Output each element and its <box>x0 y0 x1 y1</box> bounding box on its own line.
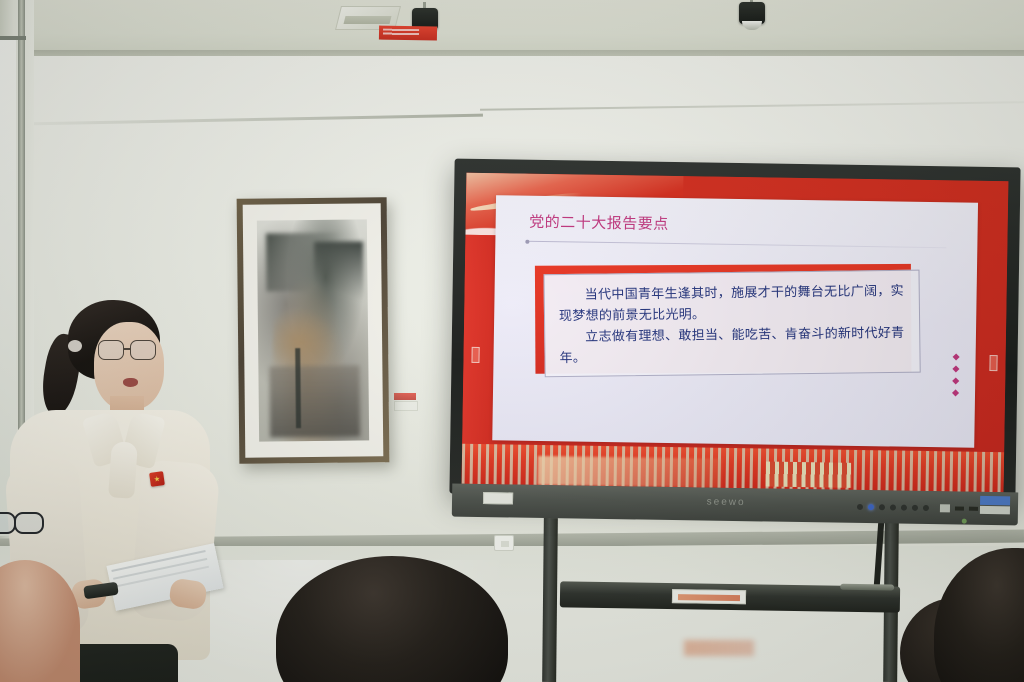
display-stand-leg-left <box>542 518 558 682</box>
usb-port[interactable] <box>940 504 950 512</box>
room-scene: 党的二十大报告要点 当代中国青年生逢其时，施展才干的舞台无比广阔，实现梦想的前景… <box>0 0 1024 682</box>
bezel-label-left <box>483 492 513 504</box>
display-control-buttons[interactable] <box>857 503 978 513</box>
star-icon <box>952 390 959 397</box>
wall-power-outlet <box>494 535 514 551</box>
artwork-canvas <box>257 219 369 441</box>
shelf-label <box>672 589 746 604</box>
shelf-handle[interactable] <box>840 584 894 591</box>
volume-down-button[interactable] <box>890 504 896 510</box>
shelf-label-text <box>678 594 740 601</box>
outlet-socket <box>501 541 509 547</box>
interactive-flat-panel[interactable]: 党的二十大报告要点 当代中国青年生逢其时，施展才干的舞台无比广阔，实现梦想的前景… <box>449 159 1020 503</box>
presenter-mouth <box>123 378 138 387</box>
slide-edge-tab-right <box>990 355 998 371</box>
artwork-mat <box>243 203 384 457</box>
ink-wash-4 <box>269 365 360 437</box>
slide-paragraph-1: 当代中国青年生逢其时，施展才干的舞台无比广阔，实现梦想的前景无比光明。 <box>559 281 906 327</box>
audience-glasses-lens-right <box>14 512 44 534</box>
wall-white-plate <box>394 401 418 411</box>
home-button[interactable] <box>912 505 918 511</box>
wall-faded-text <box>684 640 754 656</box>
ir-receiver-icon <box>962 519 967 524</box>
presentation-slide: 党的二十大报告要点 当代中国青年生逢其时，施展才干的舞台无比广阔，实现梦想的前景… <box>462 173 1009 492</box>
display-brand-logo: seewo <box>707 497 746 509</box>
slide-text-box: 当代中国青年生逢其时，施展才干的舞台无比广阔，实现梦想的前景无比光明。 立志做有… <box>544 270 921 378</box>
volume-up-button[interactable] <box>901 505 907 511</box>
ceiling <box>0 0 1024 56</box>
glasses-icon <box>98 340 168 360</box>
menu-button[interactable] <box>868 504 874 510</box>
hdmi-port[interactable] <box>969 507 978 511</box>
blouse-bow-tie <box>108 441 138 499</box>
slide-paragraph-2: 立志做有理想、敢担当、能吃苦、肯奋斗的新时代好青年。 <box>560 323 907 369</box>
bezel-label-right-grey <box>979 506 1009 514</box>
slide-star-marks <box>953 355 959 396</box>
ink-tree-trunk <box>296 348 302 428</box>
power-button[interactable] <box>857 504 863 510</box>
display-stand-shelf <box>560 581 900 612</box>
slide-title-underline <box>527 241 947 249</box>
bezel-label-right-blue <box>980 496 1010 505</box>
star-icon <box>953 354 960 361</box>
glasses-lens-right <box>130 340 156 360</box>
star-icon <box>953 366 960 373</box>
slide-title: 党的二十大报告要点 <box>529 210 669 233</box>
spotlight-lens <box>742 21 762 30</box>
party-emblem-pin-icon <box>149 471 165 487</box>
star-icon <box>952 378 959 385</box>
framed-artwork <box>237 197 390 464</box>
hdmi-port[interactable] <box>955 506 964 510</box>
wall-red-sticker <box>394 393 416 400</box>
slide-edge-tab-left <box>471 347 479 363</box>
slide-title-bullet-icon <box>526 240 530 244</box>
ceiling-spotlight-icon <box>739 2 765 36</box>
slide-content-sheet: 党的二十大报告要点 当代中国青年生逢其时，施展才干的舞台无比广阔，实现梦想的前景… <box>492 195 978 448</box>
display-red-sticker <box>379 26 437 41</box>
sticker-text <box>383 29 419 37</box>
vent-louvers <box>344 16 392 24</box>
glasses-lens-left <box>98 340 124 360</box>
back-button[interactable] <box>923 505 929 511</box>
window-header-bar <box>0 36 26 40</box>
presenter-hair-tie <box>68 340 82 352</box>
audience-glasses-icon <box>0 512 42 538</box>
ink-wash-2 <box>314 242 363 318</box>
source-button[interactable] <box>879 504 885 510</box>
display-screen[interactable]: 党的二十大报告要点 当代中国青年生逢其时，施展才干的舞台无比广阔，实现梦想的前景… <box>462 173 1009 492</box>
